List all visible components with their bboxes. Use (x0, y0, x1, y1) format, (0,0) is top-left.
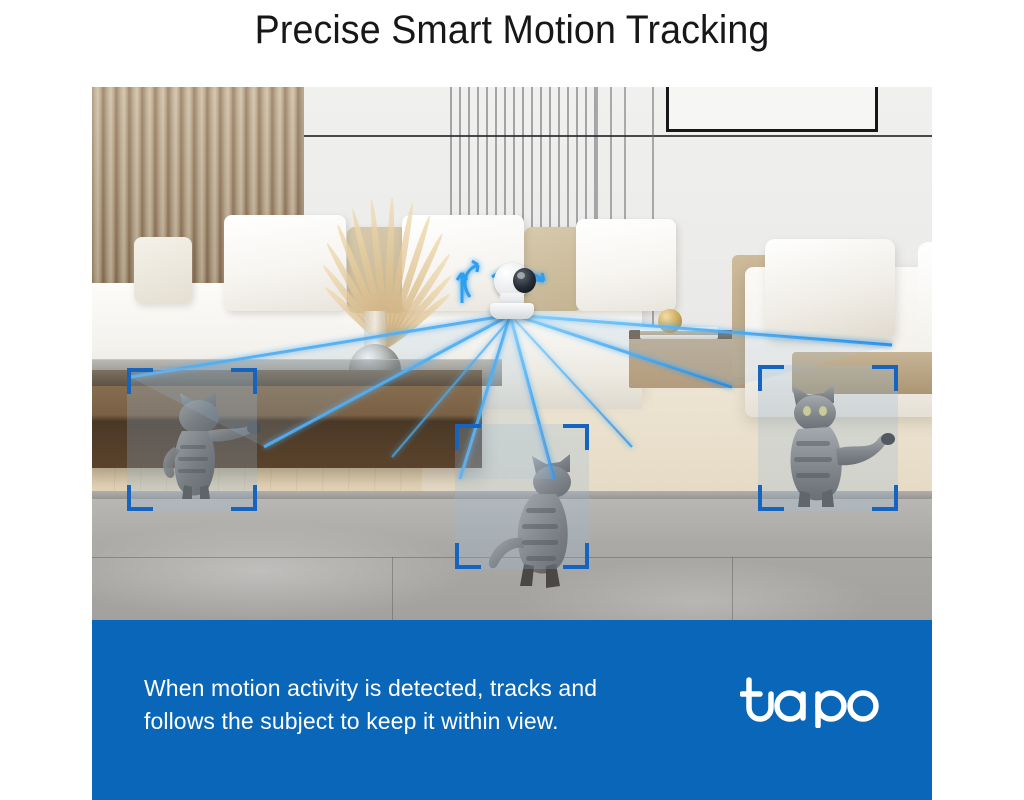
caption-line-2: follows the subject to keep it within vi… (144, 705, 704, 738)
corner-bracket-tl (127, 368, 153, 394)
page-title: Precise Smart Motion Tracking (31, 0, 994, 60)
detection-box-cat-right (758, 365, 898, 511)
corner-bracket-bl (455, 543, 481, 569)
corner-bracket-bl (127, 485, 153, 511)
corner-bracket-tl (758, 365, 784, 391)
corner-bracket-br (231, 485, 257, 511)
tapo-logo (740, 672, 885, 728)
corner-bracket-bl (758, 485, 784, 511)
hero-image (92, 87, 932, 620)
detection-box-cat-center (455, 424, 589, 569)
corner-bracket-tr (872, 365, 898, 391)
caption-band: When motion activity is detected, tracks… (92, 620, 932, 800)
camera-base (490, 303, 534, 319)
corner-bracket-tr (231, 368, 257, 394)
camera-lens-icon (513, 268, 536, 293)
caption-line-1: When motion activity is detected, tracks… (144, 672, 704, 705)
corner-bracket-tl (455, 424, 481, 450)
marketing-banner: Precise Smart Motion Tracking (0, 0, 1024, 800)
detection-box-cat-left (127, 368, 257, 511)
corner-bracket-tr (563, 424, 589, 450)
caption-text: When motion activity is detected, tracks… (144, 672, 704, 738)
tapo-pan-tilt-camera (484, 263, 540, 325)
corner-bracket-br (872, 485, 898, 511)
corner-bracket-br (563, 543, 589, 569)
